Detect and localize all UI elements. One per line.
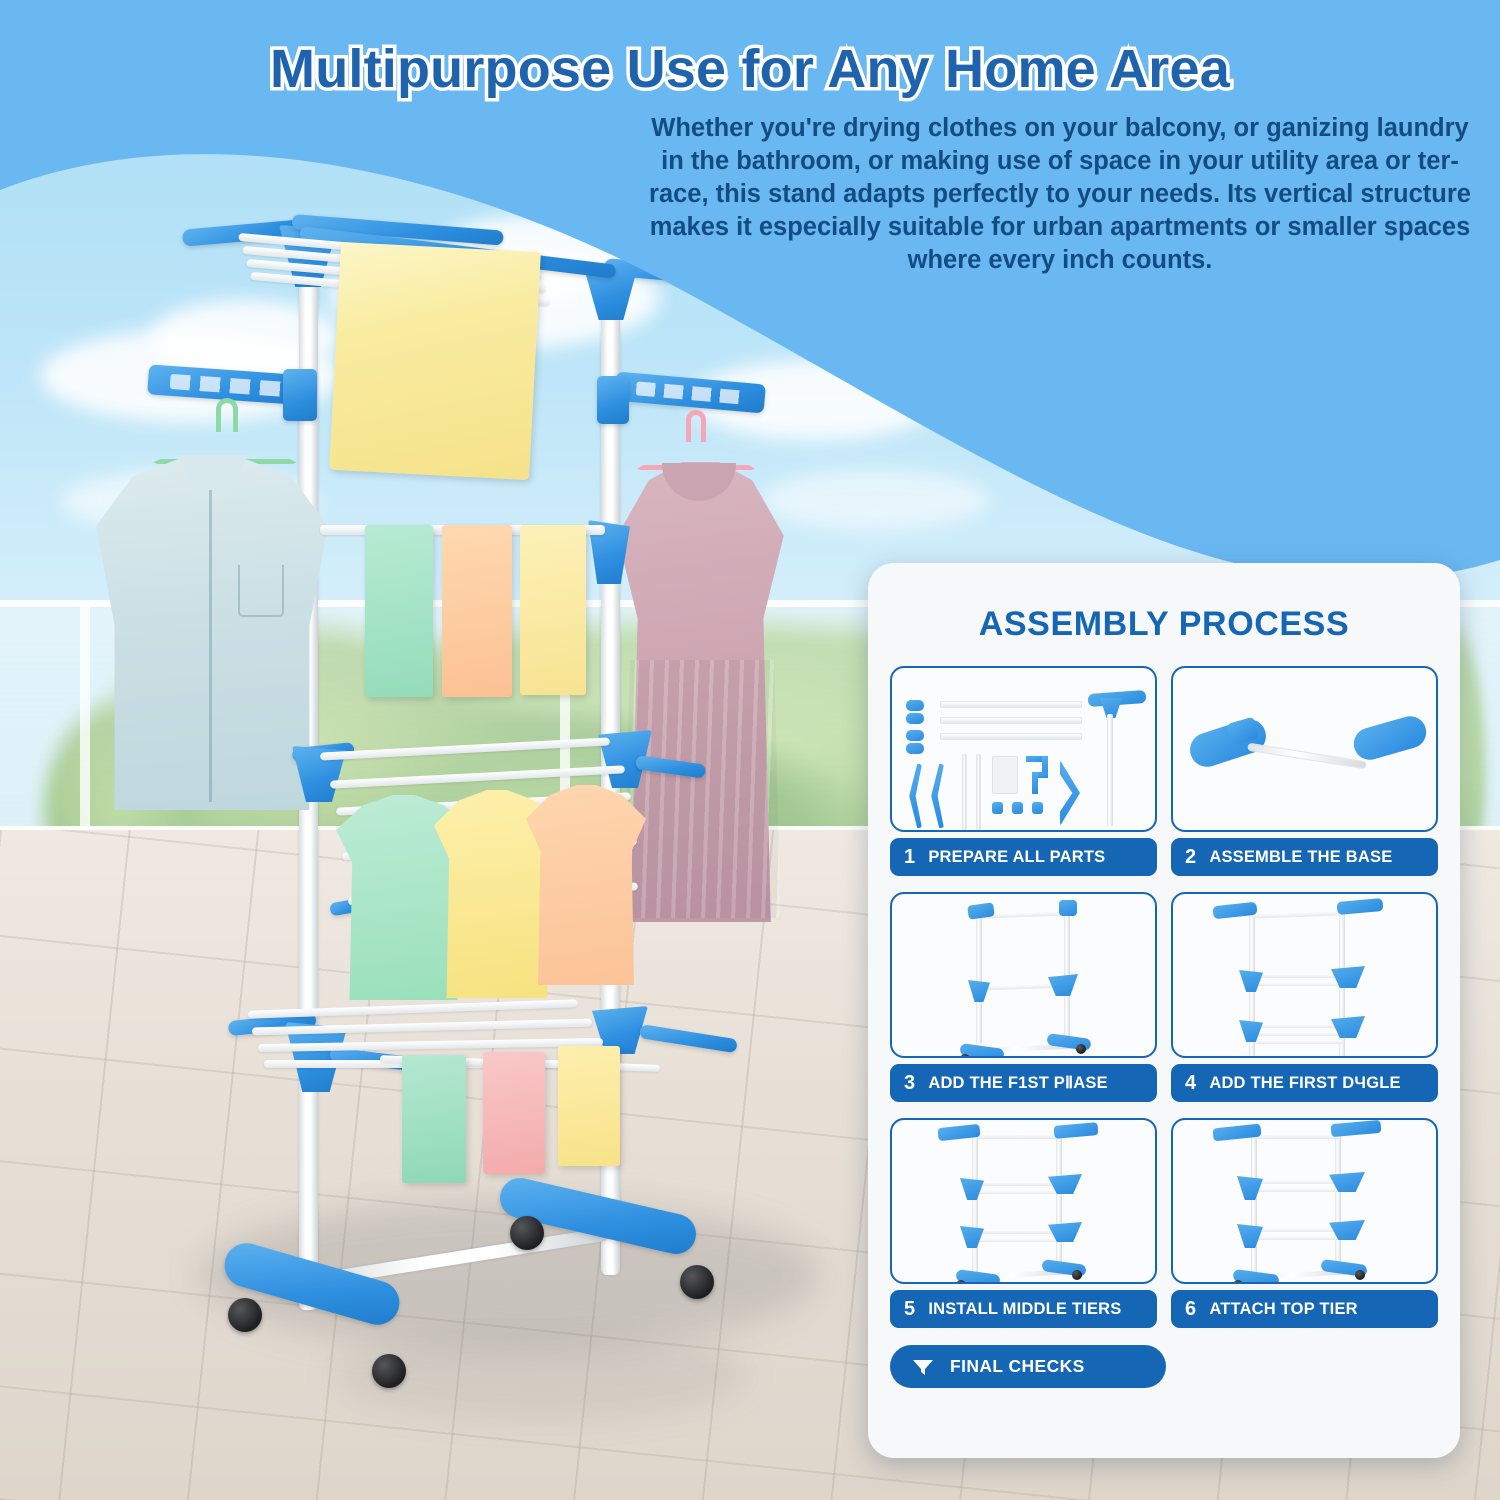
step-6-figure: [1171, 1118, 1438, 1284]
step-4-figure: [1171, 892, 1438, 1058]
frame-top-bar: [1253, 910, 1343, 918]
rack-pole-right: [1335, 1128, 1341, 1274]
tier-shelf-bar: [1253, 974, 1343, 978]
assembly-step-3[interactable]: 3 ADD THE F1ST PⅡASE: [890, 892, 1157, 1102]
tier3-shelf-bar: [320, 737, 610, 760]
hanger-arm-right: [1054, 1122, 1099, 1139]
towel-green-bottom: [402, 1055, 466, 1183]
caster-wheel: [510, 1216, 544, 1250]
tier-shelf-bar: [1253, 982, 1343, 986]
assembly-step-5[interactable]: 5 INSTALL MIDDLE TIERS: [890, 1118, 1157, 1328]
part-straight-rod: [976, 754, 981, 830]
rack-top-bar: [1255, 1134, 1339, 1139]
caster-wheel: [680, 1265, 714, 1299]
final-checks-row: FINAL CHECKS: [890, 1345, 1438, 1388]
funnel-icon: [912, 1358, 934, 1376]
step-1-text: PREPARE ALL PARTS: [928, 848, 1105, 867]
part-wing-left: [928, 764, 944, 828]
tier-shelf-bar: [1253, 1024, 1343, 1028]
shirt-placket: [209, 490, 212, 802]
frame-mid-bracket-left: [968, 980, 990, 1002]
hanger-arm-left-collar: [283, 369, 317, 421]
shelf-bracket-left: [1237, 1224, 1263, 1248]
part-long-tube: [940, 733, 1082, 740]
part-end-cap: [992, 802, 1003, 814]
towel-pink-bottom: [483, 1052, 545, 1174]
assembly-step-2[interactable]: 2 ASSEMBLE THE BASE: [1171, 666, 1438, 876]
caster-wheel: [372, 1354, 406, 1388]
assembly-step-4[interactable]: 4 ADD THE FIRST DЧGLE: [1171, 892, 1438, 1102]
step-1-figure: [890, 666, 1157, 832]
shelf-bracket-left: [960, 1178, 984, 1200]
frame-wheel: [960, 1054, 970, 1058]
frame-pole-left: [976, 912, 982, 1044]
step-1-number: 1: [904, 846, 915, 869]
frame-mid-bracket-right: [1048, 974, 1078, 996]
part-connector: [906, 743, 924, 754]
hanger-arm-right-collar: [597, 376, 629, 424]
rack-pole-left: [972, 1134, 978, 1272]
rack-shelf-bar: [976, 1190, 1062, 1194]
step-2-figure: [1171, 666, 1438, 832]
part-wing-right: [1060, 760, 1080, 826]
step-4-number: 4: [1185, 1072, 1196, 1095]
part-connector: [906, 700, 924, 711]
part-long-tube: [940, 701, 1082, 708]
rack-wheel: [1355, 1270, 1365, 1280]
step-2-text: ASSEMBLE THE BASE: [1209, 848, 1392, 867]
rack-shelf-bar: [1255, 1236, 1341, 1240]
part-connector: [906, 730, 924, 741]
top-hanger-arm-right: [1331, 1120, 1382, 1137]
rack-pole-right: [1056, 1130, 1062, 1272]
tier-bracket-left: [1239, 970, 1263, 992]
part-end-cap: [1012, 802, 1023, 814]
step-5-figure: [890, 1118, 1157, 1284]
towel-peach: [442, 525, 512, 697]
tier-bracket-left: [1239, 1020, 1263, 1042]
part-long-tube: [940, 717, 1082, 724]
assembly-process-panel: ASSEMBLY PROCESS: [868, 563, 1460, 1458]
step-5-label: 5 INSTALL MIDDLE TIERS: [890, 1290, 1157, 1328]
step-1-label: 1 PREPARE ALL PARTS: [890, 838, 1157, 876]
rack-shelf-bar: [1255, 1228, 1341, 1232]
assembly-step-1[interactable]: 1 PREPARE ALL PARTS: [890, 666, 1157, 876]
step-5-text: INSTALL MIDDLE TIERS: [928, 1300, 1121, 1319]
shelf-bracket-left: [960, 1226, 984, 1248]
towel-yellow-bottom: [558, 1046, 620, 1166]
step-2-number: 2: [1185, 846, 1196, 869]
part-connector: [906, 713, 924, 724]
frame-wheel: [1076, 1044, 1086, 1054]
rack-shelf-bar: [1255, 1188, 1341, 1192]
hanger-green-hook: [216, 398, 238, 432]
tier-shelf-bar: [1253, 1032, 1343, 1036]
base-foot-right: [1350, 712, 1430, 763]
towel-large-yellow: [329, 242, 541, 480]
rack-wheel: [1072, 1270, 1082, 1280]
step-3-number: 3: [904, 1072, 915, 1095]
page-title: Multipurpose Use for Any Home Area: [0, 38, 1500, 100]
step-4-label: 4 ADD THE FIRST DЧGLE: [1171, 1064, 1438, 1102]
step-4-text: ADD THE FIRST DЧGLE: [1209, 1074, 1400, 1093]
base-connector-tube: [1247, 743, 1367, 770]
rack-shelf-bar: [976, 1230, 1062, 1234]
assembly-steps-grid: 1 PREPARE ALL PARTS 2 ASSEMBLE THE BASE: [890, 666, 1438, 1328]
dress-skirt-gathers: [620, 660, 784, 918]
assembly-process-title: ASSEMBLY PROCESS: [890, 563, 1438, 666]
rack-shelf-bar: [976, 1182, 1062, 1186]
step-6-text: ATTACH TOP TIER: [1209, 1300, 1357, 1319]
part-center-pole: [1107, 714, 1113, 826]
hanger-arm-right: [1337, 898, 1384, 915]
tshirt-peach: [526, 785, 646, 985]
assembly-step-6[interactable]: 6 ATTACH TOP TIER: [1171, 1118, 1438, 1328]
step-2-label: 2 ASSEMBLE THE BASE: [1171, 838, 1438, 876]
tier-shelf-bar: [1253, 1040, 1343, 1044]
part-hook-bracket: [1032, 772, 1038, 794]
rack-shelf-bar: [1255, 1180, 1341, 1184]
part-straight-rod: [962, 754, 967, 830]
step-3-figure: [890, 892, 1157, 1058]
rack-top-bar: [976, 1134, 1060, 1139]
towel-mint: [365, 525, 433, 697]
part-end-cap: [1032, 802, 1043, 814]
part-hardware-bag: [992, 756, 1018, 794]
final-checks-button[interactable]: FINAL CHECKS: [890, 1345, 1166, 1388]
step-6-label: 6 ATTACH TOP TIER: [1171, 1290, 1438, 1328]
step-5-number: 5: [904, 1298, 915, 1321]
shelf-bracket-left: [1237, 1176, 1263, 1200]
step-3-text: ADD THE F1ST PⅡASE: [928, 1073, 1108, 1093]
towel-yellow: [520, 525, 586, 695]
bottom-shelf-bar: [248, 999, 578, 1019]
shirt-pocket: [238, 565, 284, 617]
hanger-pink-hook: [686, 410, 706, 442]
rack-pole-left: [1251, 1136, 1257, 1274]
frame-top-bracket-right: [1059, 900, 1077, 916]
rack-shelf-bar: [976, 1238, 1062, 1242]
step-6-number: 6: [1185, 1298, 1196, 1321]
rack-wheel: [1233, 1280, 1243, 1284]
bottom-wing-right: [639, 1024, 738, 1053]
rack-wheel: [956, 1280, 966, 1284]
caster-wheel: [228, 1298, 262, 1332]
final-checks-label: FINAL CHECKS: [950, 1356, 1085, 1377]
step-3-label: 3 ADD THE F1ST PⅡASE: [890, 1064, 1157, 1102]
page-description: Whether you're drying clothes on your ba…: [640, 112, 1480, 277]
part-wing-left: [906, 764, 922, 828]
